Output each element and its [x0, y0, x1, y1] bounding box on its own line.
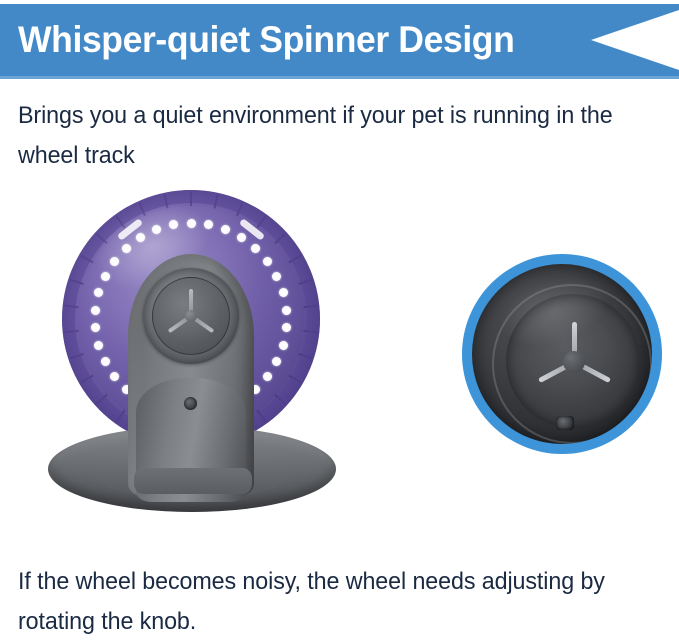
- product-photo-wheel-on-stand: [40, 182, 360, 522]
- knob-center-cap: [185, 310, 197, 322]
- header-banner: Whisper-quiet Spinner Design: [0, 4, 679, 76]
- chevron-triangle-shape: [591, 10, 679, 70]
- product-photo-knob-detail: [462, 254, 662, 454]
- knob-center-cap: [563, 351, 585, 373]
- lead-paragraph: Brings you a quiet environment if your p…: [18, 96, 649, 176]
- stand-base-plate: [134, 468, 252, 494]
- chevron-notch-icon: [591, 4, 679, 76]
- detail-screw-icon: [556, 416, 574, 430]
- page-title: Whisper-quiet Spinner Design: [18, 12, 514, 68]
- stand-screw-icon: [184, 397, 197, 410]
- detail-knob-housing: [472, 264, 652, 444]
- footer-paragraph: If the wheel becomes noisy, the wheel ne…: [18, 562, 653, 642]
- adjusting-knob[interactable]: [160, 285, 222, 347]
- banner-underline: [0, 76, 679, 79]
